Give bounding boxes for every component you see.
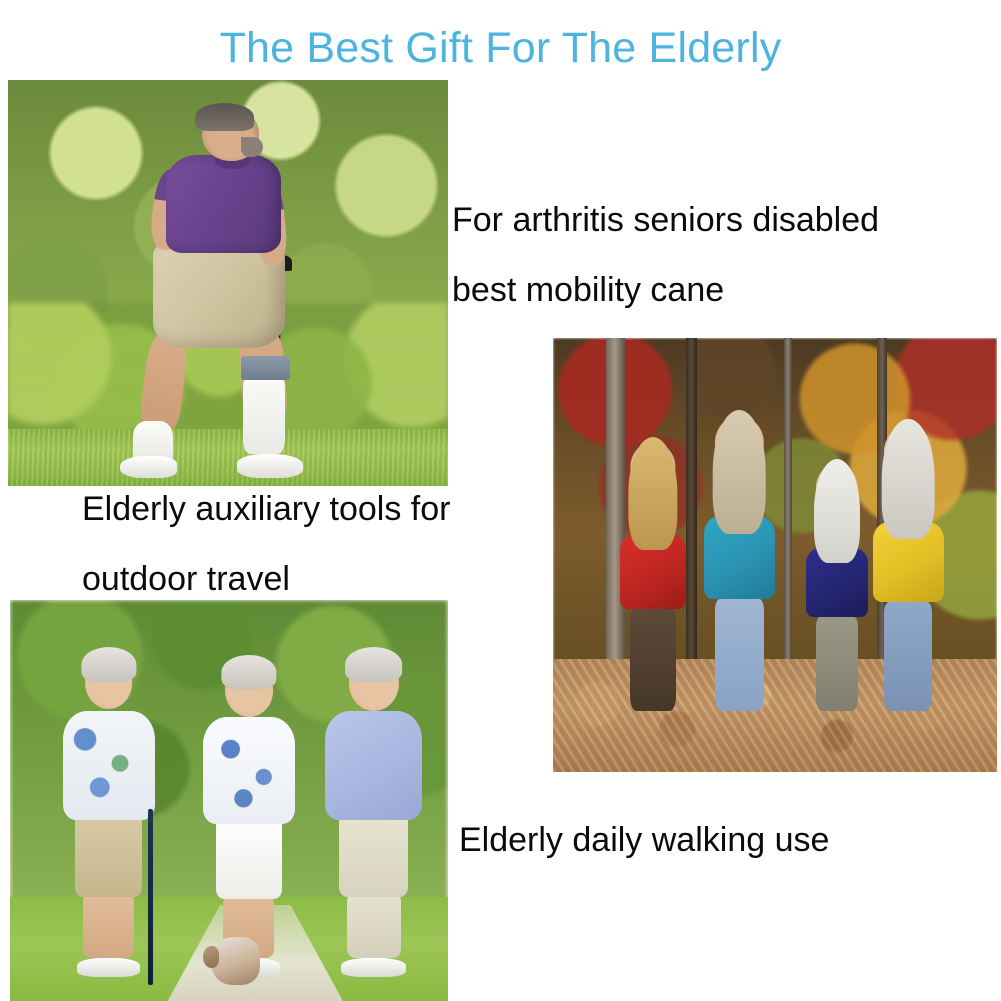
caption-outdoor-travel: Elderly auxiliary tools for outdoor trav…	[82, 487, 450, 601]
caption-arthritis-line2: best mobility cane	[452, 268, 879, 312]
rear-sock	[243, 372, 285, 453]
marketing-collage: The Best Gift For The Elderly	[0, 0, 1001, 1001]
hair	[195, 103, 254, 131]
woman-with-walking-stick	[63, 656, 155, 977]
caption-daily-walking: Elderly daily walking use	[459, 818, 829, 862]
tree-trunk	[686, 338, 697, 677]
hair	[221, 655, 276, 689]
photo-three-women-path	[10, 600, 448, 1001]
hair	[882, 419, 935, 539]
leg-brace	[241, 356, 289, 380]
rear-shoe	[237, 454, 303, 478]
caption-arthritis-line1: For arthritis seniors disabled	[452, 201, 879, 239]
photo-four-seniors-scene	[553, 338, 997, 772]
lawn	[8, 429, 448, 486]
legs	[715, 599, 763, 711]
senior-red-jacket	[620, 442, 687, 711]
hair	[713, 410, 766, 534]
page-title: The Best Gift For The Elderly	[0, 22, 1001, 74]
senior-yellow-jacket	[873, 425, 944, 711]
hair	[345, 647, 403, 682]
caption-outdoor-travel-line2: outdoor travel	[82, 557, 450, 601]
shoes	[341, 958, 407, 977]
caption-daily-walking-line1: Elderly daily walking use	[459, 821, 829, 859]
purple-polo-shirt	[166, 155, 280, 252]
blue-sweater	[325, 711, 421, 820]
khaki-shorts	[75, 813, 141, 896]
floral-blouse	[203, 717, 295, 823]
senior-teal-vest	[704, 416, 775, 711]
legs	[83, 890, 135, 957]
caption-arthritis: For arthritis seniors disabled best mobi…	[452, 198, 879, 312]
floral-blouse	[63, 711, 155, 820]
front-shoe	[120, 456, 177, 478]
caption-outdoor-travel-line1: Elderly auxiliary tools for	[82, 490, 450, 528]
senior-navy-jacket	[806, 464, 868, 711]
photo-man-cane	[8, 80, 448, 486]
hair	[814, 459, 860, 563]
legs	[884, 602, 932, 711]
tree-trunk	[784, 338, 792, 677]
legs	[347, 890, 401, 957]
legs	[630, 609, 675, 711]
photo-three-women-scene	[10, 600, 448, 1001]
shoes	[77, 958, 140, 977]
woman-blue-sweater	[325, 656, 421, 977]
small-dog	[211, 937, 259, 985]
photo-man-cane-scene	[8, 80, 448, 486]
hair	[81, 647, 136, 682]
hair	[628, 437, 677, 550]
legs	[816, 617, 858, 711]
photo-four-seniors-autumn	[553, 338, 997, 772]
walking-stick	[148, 809, 153, 985]
light-trousers	[339, 813, 408, 896]
white-shorts	[216, 817, 282, 898]
woman-center	[203, 664, 295, 977]
